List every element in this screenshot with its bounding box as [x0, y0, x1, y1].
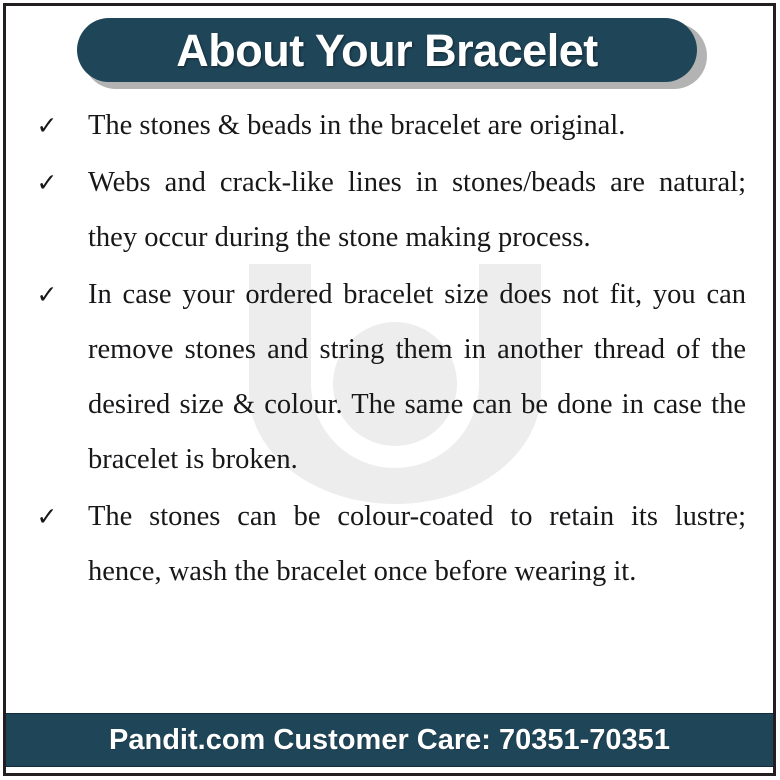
check-icon: ✓: [34, 98, 60, 153]
page-title: About Your Bracelet: [176, 28, 597, 73]
check-icon: ✓: [34, 155, 60, 210]
customer-care-text: Pandit.com Customer Care: 70351-70351: [109, 726, 670, 755]
about-bracelet-card: About Your Bracelet ✓ The stones & beads…: [0, 0, 780, 780]
list-item: ✓ The stones & beads in the bracelet are…: [30, 98, 746, 153]
list-item: ✓ In case your ordered bracelet size doe…: [30, 267, 746, 487]
list-item: ✓ Webs and crack-like lines in stones/be…: [30, 155, 746, 265]
bracelet-info-list: ✓ The stones & beads in the bracelet are…: [6, 98, 773, 599]
list-item-text: The stones & beads in the bracelet are o…: [88, 98, 746, 153]
title-pill: About Your Bracelet: [77, 18, 697, 82]
card-frame: About Your Bracelet ✓ The stones & beads…: [3, 3, 776, 776]
list-item-text: Webs and crack-like lines in stones/bead…: [88, 155, 746, 265]
check-icon: ✓: [34, 489, 60, 544]
footer-bar: Pandit.com Customer Care: 70351-70351: [6, 713, 773, 767]
list-item-text: In case your ordered bracelet size does …: [88, 267, 746, 487]
list-item: ✓ The stones can be colour-coated to ret…: [30, 489, 746, 599]
header: About Your Bracelet: [6, 6, 773, 98]
check-icon: ✓: [34, 267, 60, 322]
list-item-text: The stones can be colour-coated to retai…: [88, 489, 746, 599]
